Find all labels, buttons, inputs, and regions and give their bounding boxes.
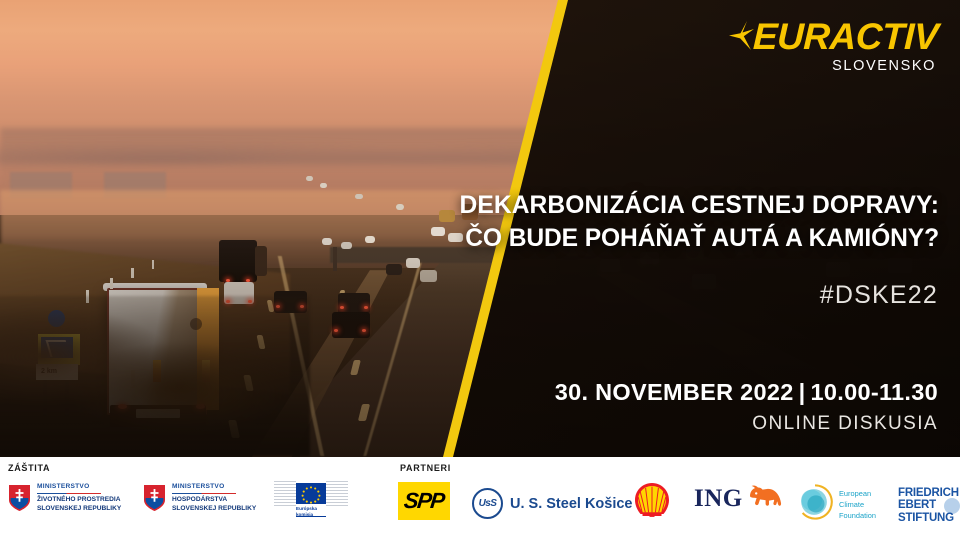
ministry-name-line-1: MINISTERSTVO [37,483,89,490]
sponsor-bar: ZÁŠTITA PARTNERI MINISTERSTVO ŽIVOTNÉHO … [0,457,960,540]
euractiv-edition-label: SLOVENSKO [727,58,936,74]
event-datetime: 30. NOVEMBER 2022|10.00-11.30 [555,379,938,406]
euractiv-logo[interactable]: EURACTIV SLOVENSKO [727,18,938,74]
ministry-name-line-3: SLOVENSKEJ REPUBLIKY [172,505,256,514]
ministry-name-line-2: HOSPODÁRSTVA [172,496,256,505]
event-title-line-1: DEKARBONIZÁCIA CESTNEJ DOPRAVY: [459,190,939,223]
spp-wordmark: SPP [403,488,445,514]
euractiv-wordmark: EURACTIV [752,18,938,55]
ecf-line-3: Foundation [839,510,876,521]
spp-logo[interactable]: SPP [398,482,450,520]
patronage-label: ZÁŠTITA [8,463,50,473]
event-title-line-2: ČO BUDE POHÁŇAŤ AUTÁ A KAMIÓNY? [459,223,939,256]
european-climate-foundation-logo[interactable]: European Climate Foundation [796,483,876,526]
fes-line-3: STIFTUNG [898,512,959,524]
ministry-name-line-3: SLOVENSKEJ REPUBLIKY [37,505,121,514]
fes-line-1: FRIEDRICH [898,487,959,499]
ministerstvo-zivotneho-prostredia-sr-logo[interactable]: MINISTERSTVO ŽIVOTNÉHO PROSTREDIA SLOVEN… [8,483,121,513]
shell-logo[interactable] [632,481,672,518]
uss-circle-icon: UsS [472,488,503,519]
event-time: 10.00-11.30 [811,379,938,405]
ing-logo[interactable]: ING [694,483,783,514]
ecf-circle-icon [796,483,834,526]
slovak-coat-of-arms-icon [8,484,31,512]
ing-wordmark: ING [694,485,743,513]
ministry-rule [37,493,101,495]
ing-lion-icon [747,483,783,514]
europska-komisia-logo[interactable]: Európska komisia [274,477,346,517]
slovak-coat-of-arms-icon [143,484,166,512]
us-steel-wordmark: U. S. Steel Košice [510,496,633,512]
ecf-line-2: Climate [839,499,876,510]
event-date: 30. NOVEMBER 2022 [555,379,794,405]
ministerstvo-hospodarstva-sr-logo[interactable]: MINISTERSTVO HOSPODÁRSTVA SLOVENSKEJ REP… [143,483,256,513]
shell-pecten-icon [632,481,672,518]
partners-label: PARTNERI [400,463,451,473]
uss-monogram: UsS [479,498,497,509]
us-steel-kosice-logo[interactable]: UsS U. S. Steel Košice [472,488,633,519]
friedrich-ebert-stiftung-logo[interactable]: FRIEDRICH EBERT STIFTUNG [898,487,959,524]
eu-flag-icon [296,483,326,504]
eu-rule [296,516,326,517]
event-hashtag: #DSKE22 [820,281,938,310]
ecf-line-1: European [839,488,876,499]
ministry-rule [172,493,236,495]
datetime-separator: | [794,379,811,405]
fes-line-2: EBERT [898,499,959,511]
event-promo-poster: 2 km EURACTIV SLOVENSKO DEKARBONIZÁCIA C… [0,0,960,540]
ministry-name-line-1: MINISTERSTVO [172,483,224,490]
event-title: DEKARBONIZÁCIA CESTNEJ DOPRAVY: ČO BUDE … [459,190,939,255]
event-format: ONLINE DISKUSIA [752,413,938,435]
ministry-name-line-2: ŽIVOTNÉHO PROSTREDIA [37,496,121,505]
